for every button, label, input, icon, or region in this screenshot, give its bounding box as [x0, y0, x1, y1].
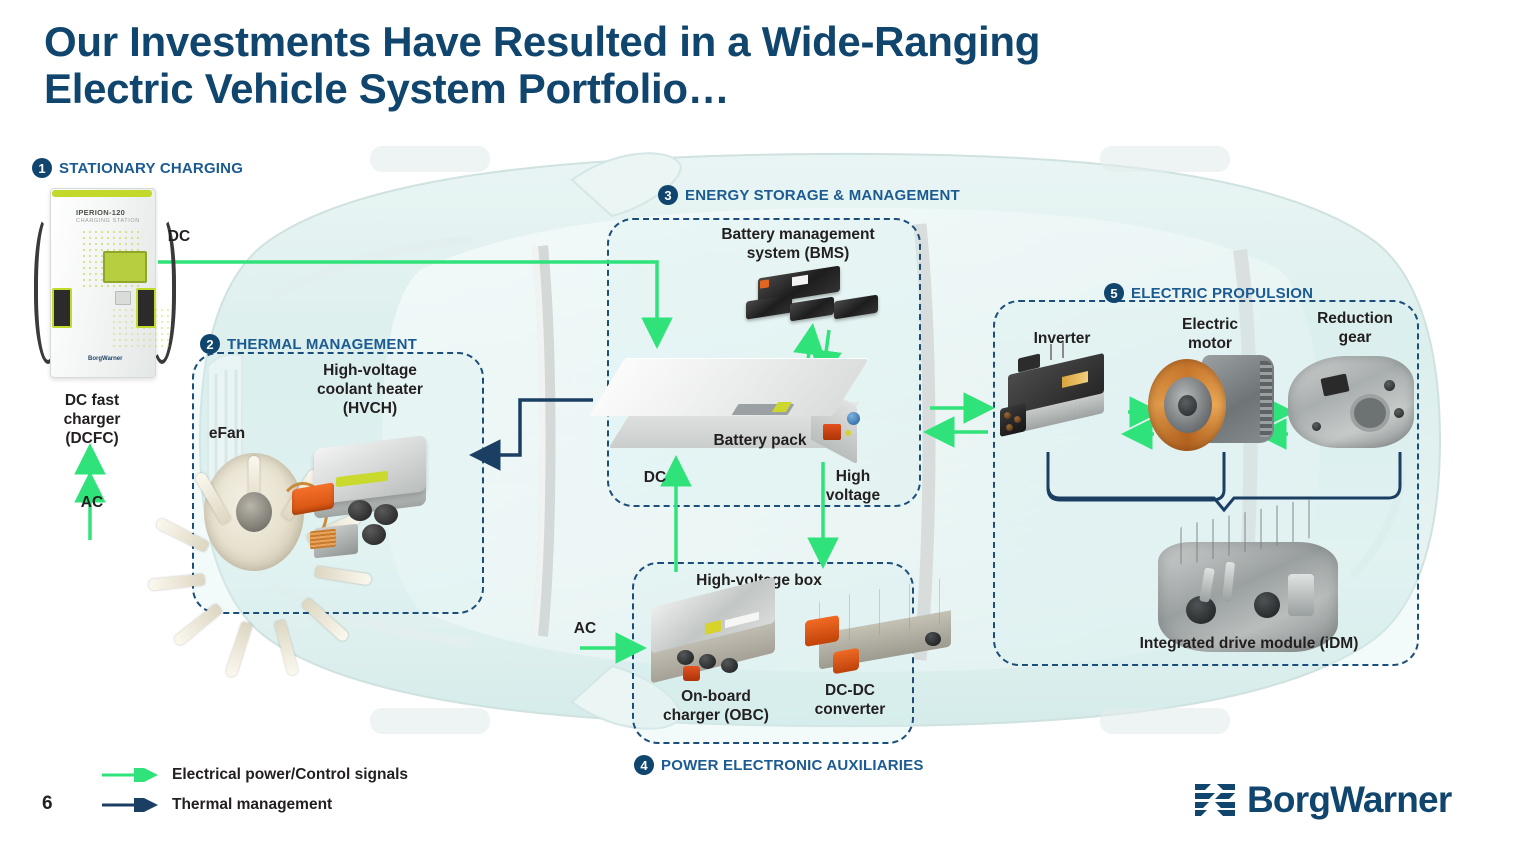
- label-efan: eFan: [180, 425, 274, 444]
- charger-card-reader: [115, 291, 131, 305]
- battery-pack-image: [607, 358, 867, 478]
- section-label-5: ELECTRIC PROPULSION: [1131, 285, 1313, 302]
- gear-line1: Reduction: [1296, 310, 1414, 329]
- hvch-line3: (HVCH): [288, 400, 452, 419]
- gear-bolt-hole: [1384, 380, 1395, 391]
- title-line-2: Electric Vehicle System Portfolio…: [44, 65, 1444, 112]
- dcfc-caption: DC fast charger (DCFC): [30, 392, 154, 449]
- hvch-connector: [362, 524, 386, 545]
- hvch-connector: [348, 500, 372, 521]
- charger-display-screen: [103, 251, 147, 283]
- legend-row-electrical: Electrical power/Control signals: [100, 760, 408, 790]
- gear-output-flange: [1350, 394, 1390, 432]
- idm-side-block: [1288, 574, 1314, 616]
- dcdc-line2: converter: [790, 701, 910, 720]
- section-badge-3: 3: [658, 185, 678, 205]
- inverter-terminal: [1014, 416, 1021, 423]
- section-badge-5: 5: [1104, 283, 1124, 303]
- charger-connector-left: [52, 288, 72, 328]
- label-dc-top: DC: [150, 228, 208, 247]
- motor-line1: Electric: [1152, 316, 1268, 335]
- electric-motor-image: [1148, 355, 1280, 455]
- obc-connector: [677, 650, 694, 665]
- motor-shaft-bore: [1178, 395, 1197, 416]
- dcfc-caption-line2: charger: [30, 411, 154, 430]
- inverter-terminal-block: [1000, 403, 1026, 437]
- charger-product-subtitle: CHARGING STATION: [76, 218, 140, 224]
- bms-line2: system (BMS): [706, 245, 890, 264]
- inverter-terminal: [1006, 424, 1013, 431]
- obc-connector: [699, 654, 716, 669]
- inverter-terminal: [1004, 412, 1011, 419]
- motor-line2: motor: [1152, 335, 1268, 354]
- hvch-connector: [374, 504, 398, 525]
- section-header-thermal-management: 2 THERMAL MANAGEMENT: [200, 334, 417, 354]
- gear-bolt-hole: [1394, 408, 1404, 418]
- legend-arrow-green: [100, 768, 162, 782]
- charger-green-top-bar: [52, 190, 152, 197]
- borgwarner-wordmark: BorgWarner: [1247, 781, 1451, 818]
- label-battery-pack: Battery pack: [690, 432, 830, 451]
- legend-label-thermal: Thermal management: [172, 796, 332, 814]
- bms-line1: Battery management: [706, 226, 890, 245]
- label-dc-up: DC: [630, 469, 680, 488]
- section-badge-4: 4: [634, 755, 654, 775]
- dcdc-connector: [925, 632, 941, 646]
- charger-product-name: IPERION-120: [76, 208, 125, 217]
- slide-canvas: Our Investments Have Resulted in a Wide-…: [0, 0, 1536, 842]
- legend-label-electrical: Electrical power/Control signals: [172, 766, 408, 784]
- obc-line1: On-board: [636, 688, 796, 707]
- section-header-stationary-charging: 1 STATIONARY CHARGING: [32, 158, 243, 178]
- inverter-pin: [1062, 342, 1064, 358]
- charging-station-image: IPERION-120 CHARGING STATION BorgWarner: [28, 188, 176, 380]
- gear-bolt-hole: [1312, 422, 1321, 431]
- charger-connector-right: [136, 288, 156, 328]
- label-bms: Battery management system (BMS): [706, 226, 890, 264]
- borgwarner-mark-icon: [1193, 780, 1237, 818]
- bms-image: [740, 272, 900, 340]
- section-label-2: THERMAL MANAGEMENT: [227, 336, 417, 353]
- high-voltage-line1: High: [820, 468, 886, 487]
- section-label-1: STATIONARY CHARGING: [59, 160, 243, 177]
- dcfc-caption-line1: DC fast: [30, 392, 154, 411]
- fan-center-hub: [236, 492, 272, 532]
- page-title: Our Investments Have Resulted in a Wide-…: [44, 18, 1444, 112]
- reduction-gear-image: [1288, 350, 1416, 454]
- high-voltage-line2: voltage: [820, 487, 886, 506]
- legend-row-thermal: Thermal management: [100, 790, 408, 820]
- idm-bore: [1254, 592, 1280, 618]
- motor-cooling-fins: [1260, 361, 1272, 437]
- gear-housing: [1288, 356, 1414, 448]
- hvch-line1: High-voltage: [288, 362, 452, 381]
- section-badge-1: 1: [32, 158, 52, 178]
- hvch-pin-block: [310, 529, 336, 550]
- label-idm: Integrated drive module (iDM): [1104, 635, 1394, 654]
- obc-line2: charger (OBC): [636, 707, 796, 726]
- charger-brand-mark: BorgWarner: [88, 356, 122, 362]
- label-high-voltage: High voltage: [820, 468, 886, 506]
- inverter-image: [1000, 358, 1122, 452]
- obc-image: [645, 592, 795, 696]
- legend: Electrical power/Control signals Thermal…: [100, 760, 408, 820]
- label-hvch: High-voltage coolant heater (HVCH): [288, 362, 452, 419]
- section-badge-2: 2: [200, 334, 220, 354]
- dcdc-line1: DC-DC: [790, 682, 910, 701]
- label-ac-input: AC: [62, 494, 122, 513]
- battery-lv-connector: [847, 412, 860, 425]
- hvch-image: [292, 438, 442, 558]
- dcdc-orange-connector: [833, 648, 859, 675]
- bms-slave-module: [790, 297, 834, 322]
- borgwarner-logo: BorgWarner: [1193, 780, 1451, 818]
- section-label-4: POWER ELECTRONIC AUXILIARIES: [661, 757, 924, 774]
- section-header-energy-storage: 3 ENERGY STORAGE & MANAGEMENT: [658, 185, 960, 205]
- page-number: 6: [42, 793, 53, 815]
- hvch-line2: coolant heater: [288, 381, 452, 400]
- dcdc-converter-image: [805, 588, 965, 688]
- title-line-1: Our Investments Have Resulted in a Wide-…: [44, 18, 1040, 65]
- obc-connector: [721, 658, 738, 673]
- section-header-power-electronics: 4 POWER ELECTRONIC AUXILIARIES: [634, 755, 924, 775]
- dcfc-caption-line3: (DCFC): [30, 430, 154, 449]
- section-header-electric-propulsion: 5 ELECTRIC PROPULSION: [1104, 283, 1313, 303]
- bms-orange-connector: [760, 279, 769, 288]
- bms-slave-module: [746, 294, 792, 319]
- section-label-3: ENERGY STORAGE & MANAGEMENT: [685, 187, 960, 204]
- label-obc: On-board charger (OBC): [636, 688, 796, 726]
- label-reduction-gear: Reduction gear: [1296, 310, 1414, 348]
- obc-orange-connector: [683, 666, 700, 681]
- legend-arrow-navy: [100, 798, 162, 812]
- label-ac-mid: AC: [560, 620, 610, 639]
- bms-slave-module: [834, 295, 878, 320]
- inverter-pin: [1050, 344, 1052, 360]
- label-dcdc: DC-DC converter: [790, 682, 910, 720]
- battery-top-face: [589, 358, 869, 416]
- gear-line2: gear: [1296, 329, 1414, 348]
- label-electric-motor: Electric motor: [1152, 316, 1268, 354]
- battery-indicator: [845, 430, 851, 436]
